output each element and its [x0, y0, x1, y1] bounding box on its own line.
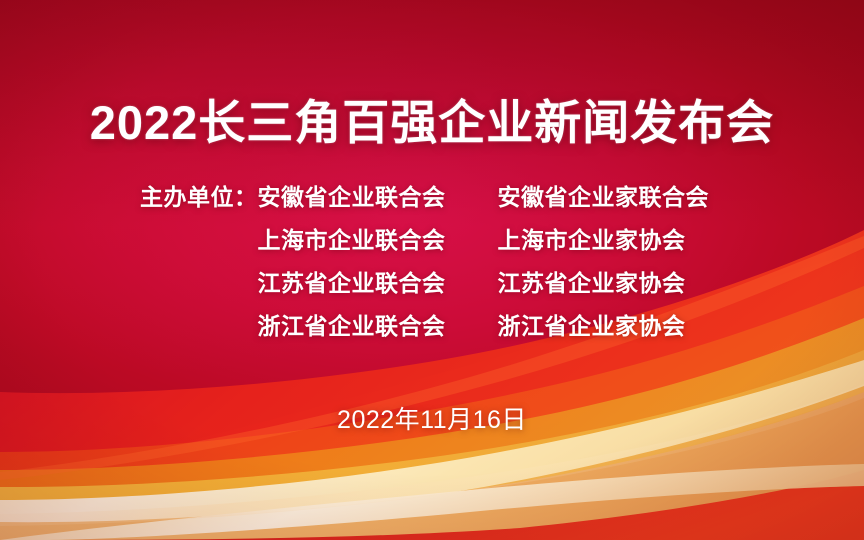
- page-title: 2022长三角百强企业新闻发布会: [0, 96, 864, 150]
- organizer-row: 江苏省企业联合会 江苏省企业家协会: [0, 264, 864, 298]
- organizer-prefix-label: 主办单位：: [140, 184, 258, 210]
- organizer-left-cell: 上海市企业联合会: [121, 221, 446, 255]
- event-date: 2022年11月16日: [0, 400, 864, 436]
- organizer-left-cell: 浙江省企业联合会: [121, 307, 446, 341]
- organizer-row: 上海市企业联合会 上海市企业家协会: [0, 221, 864, 255]
- organizer-left-label: 安徽省企业联合会: [258, 184, 446, 210]
- organizers-block: 主办单位：安徽省企业联合会 安徽省企业家联合会 上海市企业联合会 上海市企业家协…: [0, 178, 864, 341]
- organizer-left-cell: 江苏省企业联合会: [121, 264, 446, 298]
- organizer-row: 浙江省企业联合会 浙江省企业家协会: [0, 307, 864, 341]
- organizer-right-cell: 江苏省企业家协会: [498, 264, 744, 298]
- organizer-row: 主办单位：安徽省企业联合会 安徽省企业家联合会: [0, 178, 864, 212]
- organizer-right-cell: 安徽省企业家联合会: [498, 178, 744, 212]
- organizer-left-cell: 主办单位：安徽省企业联合会: [121, 178, 446, 212]
- poster-canvas: 2022长三角百强企业新闻发布会 主办单位：安徽省企业联合会 安徽省企业家联合会…: [0, 0, 864, 540]
- organizer-right-cell: 浙江省企业家协会: [498, 307, 744, 341]
- organizer-right-cell: 上海市企业家协会: [498, 221, 744, 255]
